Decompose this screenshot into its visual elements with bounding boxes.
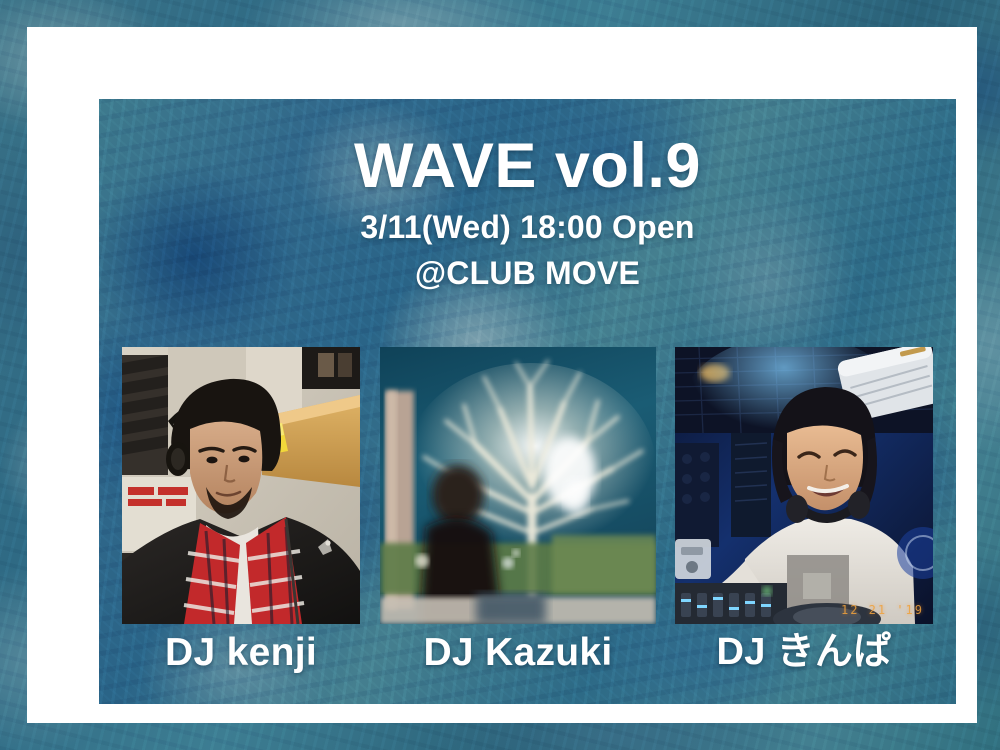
artist-card: W xyxy=(122,347,360,675)
club-dj-illustration xyxy=(675,347,933,624)
artist-card: DJ Kazuki xyxy=(380,347,656,675)
artist-name: DJ Kazuki xyxy=(380,631,656,675)
artist-photo-kinpa: 12 21 '19 xyxy=(675,347,933,624)
event-title: WAVE vol.9 xyxy=(99,133,956,199)
flyer-canvas: WAVE vol.9 3/11(Wed) 18:00 Open @CLUB MO… xyxy=(0,0,1000,750)
event-venue: @CLUB MOVE xyxy=(99,255,956,292)
artist-card: 12 21 '19 DJ きんぱ xyxy=(675,347,933,674)
headline-block: WAVE vol.9 3/11(Wed) 18:00 Open @CLUB MO… xyxy=(99,133,956,292)
white-mat-frame: WAVE vol.9 3/11(Wed) 18:00 Open @CLUB MO… xyxy=(27,27,977,723)
artist-name: DJ きんぱ xyxy=(675,631,933,674)
portrait-illustration: W xyxy=(122,347,360,624)
photo-datestamp: 12 21 '19 xyxy=(841,603,924,617)
night-tree-illustration xyxy=(380,347,656,624)
event-datetime: 3/11(Wed) 18:00 Open xyxy=(99,209,956,246)
artist-lineup: W xyxy=(122,347,933,672)
artist-photo-kazuki xyxy=(380,347,656,624)
artist-photo-kenji: W xyxy=(122,347,360,624)
inner-painted-panel: WAVE vol.9 3/11(Wed) 18:00 Open @CLUB MO… xyxy=(99,99,956,704)
artist-name: DJ kenji xyxy=(122,631,360,675)
